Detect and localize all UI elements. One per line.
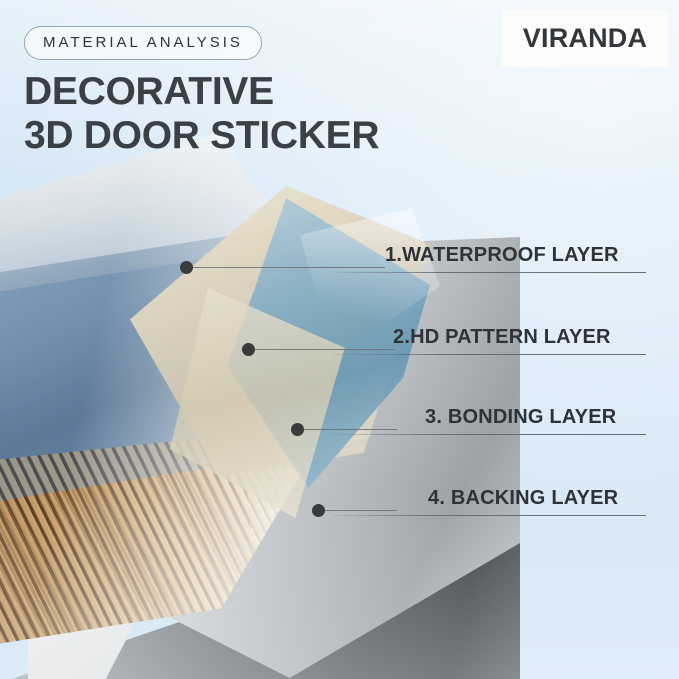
callout-rule-2 [333, 354, 646, 355]
brand-logo: VIRANDA [502, 10, 668, 67]
callout-label-2: 2.HD PATTERN LAYER [393, 326, 611, 349]
page-title-line-2: 3D DOOR STICKER [24, 114, 379, 158]
badge-material-analysis: MATERIAL ANALYSIS [24, 26, 262, 60]
material-analysis-infographic: MATERIAL ANALYSIS DECORATIVE 3D DOOR STI… [0, 0, 679, 679]
callout-rule-1 [333, 272, 646, 273]
callout-leader-line-1 [193, 267, 385, 268]
callout-label-3: 3. BONDING LAYER [425, 406, 616, 429]
callout-leader-line-2 [255, 349, 395, 350]
callout-rule-4 [333, 515, 646, 516]
callout-dot-4 [312, 504, 325, 517]
callout-leader-line-3 [304, 429, 397, 430]
brand-logo-text: VIRANDA [523, 23, 647, 54]
callout-rule-3 [333, 434, 646, 435]
callout-leader-line-4 [325, 510, 397, 511]
callout-label-1: 1.WATERPROOF LAYER [385, 244, 619, 267]
callout-dot-1 [180, 261, 193, 274]
page-title: DECORATIVE 3D DOOR STICKER [24, 70, 379, 159]
page-title-line-1: DECORATIVE [24, 70, 379, 114]
callout-dot-2 [242, 343, 255, 356]
callout-label-4: 4. BACKING LAYER [428, 487, 618, 510]
callout-dot-3 [291, 423, 304, 436]
